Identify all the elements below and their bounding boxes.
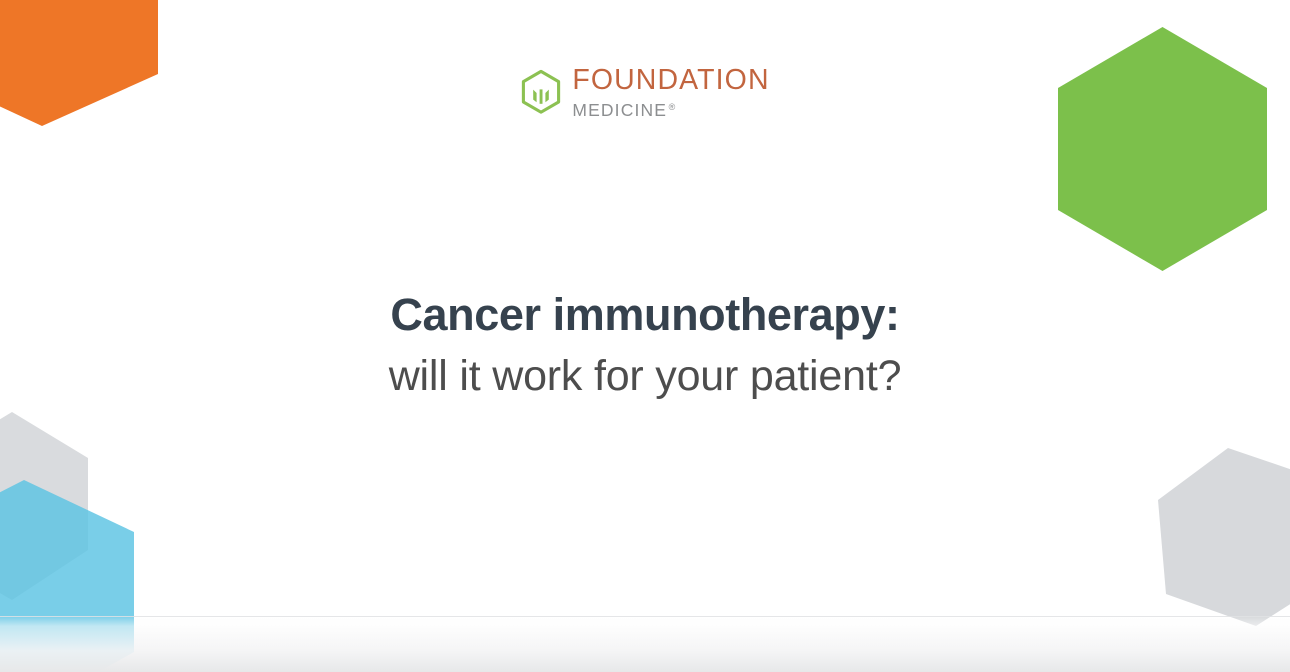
green-hexagon-top-right-icon: [1055, 25, 1270, 273]
gray-hexagon-bottom-right-icon: [1152, 444, 1290, 634]
blue-hexagon-bottom-left-icon: [0, 470, 148, 672]
brand-logo: FOUNDATION MEDICINE ®: [0, 66, 1290, 120]
foundation-medicine-hexagon-mark-icon: [520, 69, 562, 120]
slide-canvas: FOUNDATION MEDICINE ® Cancer immunothera…: [0, 0, 1290, 672]
bottom-gradient-band: [0, 616, 1290, 672]
slide-subtitle: will it work for your patient?: [0, 351, 1290, 403]
logo-wordmark-foundation: FOUNDATION: [572, 66, 769, 95]
bottom-band-divider: [0, 616, 1290, 617]
headline-block: Cancer immunotherapy: will it work for y…: [0, 288, 1290, 403]
gray-hexagon-bottom-left-icon: [0, 408, 94, 608]
slide-title: Cancer immunotherapy:: [0, 288, 1290, 341]
logo-wordmark-medicine: MEDICINE: [572, 102, 667, 120]
registered-trademark-symbol: ®: [669, 103, 676, 112]
